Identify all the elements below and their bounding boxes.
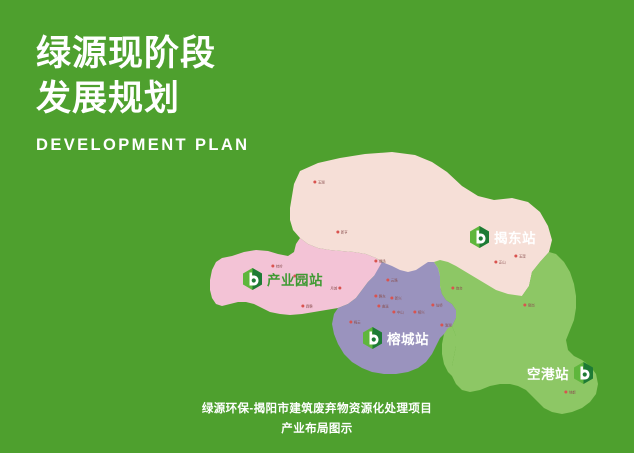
caption-block: 绿源环保-揭阳市建筑废弃物资源化处理项目 产业布局图示 <box>0 399 634 439</box>
town-marker: 登岗 <box>523 303 534 308</box>
lvyuan-logo-icon <box>574 362 593 384</box>
town-marker: 锡场 <box>374 259 385 264</box>
town-dot-icon <box>440 324 443 327</box>
town-label: 云路 <box>391 278 398 283</box>
caption-line1: 绿源环保-揭阳市建筑废弃物资源化处理项目 <box>0 399 634 419</box>
town-dot-icon <box>313 181 316 184</box>
town-label: 渔湖 <box>445 323 452 328</box>
town-label: 月城 <box>330 286 337 291</box>
town-marker: 云路 <box>386 278 397 283</box>
town-label: 中山 <box>397 310 404 315</box>
page-title-line2: 发展规划 <box>36 77 250 122</box>
town-dot-icon <box>514 255 517 258</box>
town-label: 曲溪 <box>382 304 389 309</box>
town-marker: 磐东 <box>374 294 385 299</box>
town-dot-icon <box>392 311 395 314</box>
town-marker: 渔湖 <box>440 323 451 328</box>
town-label: 玉湖 <box>318 180 325 185</box>
station-marker-chanyeyuan[interactable]: 产业园站 <box>243 268 323 290</box>
town-dot-icon <box>374 260 377 263</box>
page-subtitle: DEVELOPMENT PLAN <box>36 136 250 155</box>
town-marker: 霖磐 <box>301 304 312 309</box>
town-dot-icon <box>301 305 304 308</box>
station-label: 产业园站 <box>267 269 323 289</box>
town-label: 正山 <box>499 260 506 265</box>
town-dot-icon <box>336 231 339 234</box>
town-dot-icon <box>386 279 389 282</box>
station-label: 空港站 <box>527 363 569 383</box>
town-marker: 仙桥 <box>431 303 442 308</box>
town-label: 榕兴 <box>418 310 425 315</box>
town-marker: 中山 <box>392 310 403 315</box>
station-marker-konggang[interactable]: 空港站 <box>527 362 593 384</box>
town-label: 玉滘 <box>519 254 526 259</box>
page-title-line1: 绿源现阶段 <box>36 32 250 77</box>
town-marker: 新亨 <box>336 230 347 235</box>
town-marker: 榕兴 <box>413 310 424 315</box>
town-label: 仙桥 <box>436 303 443 308</box>
caption-line2: 产业布局图示 <box>0 419 634 439</box>
town-marker: 梅云 <box>349 320 360 325</box>
town-marker: 玉滘 <box>514 254 525 259</box>
station-marker-jiedong[interactable]: 揭东站 <box>470 226 536 248</box>
town-dot-icon <box>494 261 497 264</box>
town-marker: 正山 <box>494 260 505 265</box>
town-label: 新兴 <box>395 296 402 301</box>
town-dot-icon <box>374 295 377 298</box>
title-block: 绿源现阶段 发展规划 DEVELOPMENT PLAN <box>36 32 250 155</box>
town-dot-icon <box>339 287 342 290</box>
town-dot-icon <box>377 305 380 308</box>
town-label: 炮台 <box>456 286 463 291</box>
town-dot-icon <box>413 311 416 314</box>
town-dot-icon <box>523 304 526 307</box>
lvyuan-logo-icon <box>243 268 262 290</box>
town-dot-icon <box>390 297 393 300</box>
town-label: 新亨 <box>341 230 348 235</box>
town-label: 地都 <box>569 390 576 395</box>
town-dot-icon <box>349 321 352 324</box>
town-dot-icon <box>564 391 567 394</box>
station-label: 揭东站 <box>494 227 536 247</box>
town-marker: 新兴 <box>390 296 401 301</box>
town-label: 磐东 <box>379 294 386 299</box>
town-label: 登岗 <box>528 303 535 308</box>
slide-root: 玉湖 新亨 锡场 桂岭 白塔 月城 霖磐 云路 磐东 新兴 曲溪 中山 榕兴 梅… <box>0 0 634 453</box>
lvyuan-logo-icon <box>470 226 489 248</box>
station-label: 榕城站 <box>387 328 429 348</box>
town-marker: 月城 <box>330 286 341 291</box>
town-dot-icon <box>451 287 454 290</box>
lvyuan-logo-icon <box>363 327 382 349</box>
town-marker: 地都 <box>564 390 575 395</box>
town-marker: 曲溪 <box>377 304 388 309</box>
town-label: 霖磐 <box>306 304 313 309</box>
town-label: 梅云 <box>354 320 361 325</box>
town-label: 锡场 <box>379 259 386 264</box>
town-marker: 玉湖 <box>313 180 324 185</box>
station-marker-rongcheng[interactable]: 榕城站 <box>363 327 429 349</box>
town-marker: 炮台 <box>451 286 462 291</box>
town-dot-icon <box>431 304 434 307</box>
